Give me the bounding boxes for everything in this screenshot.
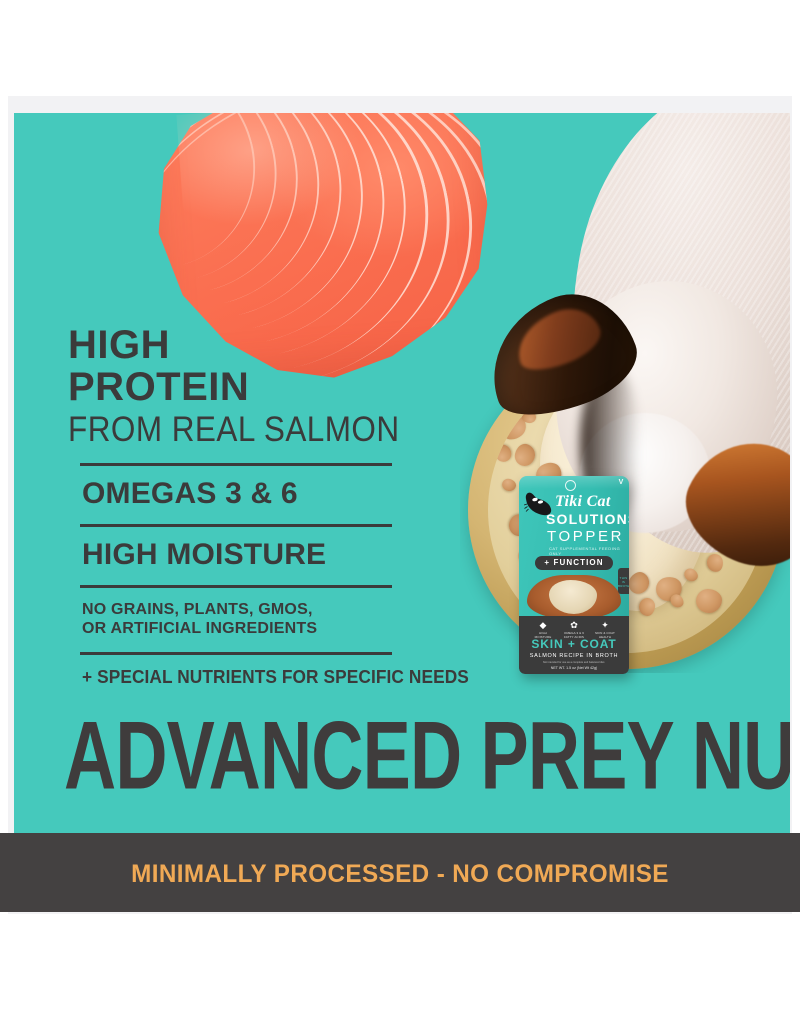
benefit-glyph-icon: ◆ [531, 620, 555, 631]
benefit-glyph-icon: ✿ [562, 620, 586, 631]
pouch-brand-name: Tiki Cat [555, 494, 611, 510]
kibble-piece [513, 442, 537, 468]
divider-4 [80, 652, 392, 655]
kibble-piece [638, 597, 656, 616]
cat-ear-inner [508, 300, 607, 378]
exclusions-line-1: NO GRAINS, PLANTS, GMOS, [82, 600, 468, 619]
benefit-glyph-icon: ✦ [593, 620, 617, 631]
pouch-line-topper: TOPPER [547, 529, 624, 544]
pouch-legal-text: Not intended for use as a complete and b… [519, 661, 629, 665]
divider-2 [80, 524, 392, 527]
pouch-recipe-name: SALMON RECIPE IN BROTH [519, 653, 629, 660]
pouch-broth-tab: THIS IS BROTH [618, 568, 629, 594]
divider-3 [80, 585, 392, 588]
fact-moisture: HIGH MOISTURE [82, 539, 468, 571]
pouch-topper-blob [549, 580, 597, 614]
special-nutrients-line: + SPECIAL NUTRIENTS FOR SPECIFIC NEEDS [82, 667, 453, 687]
certification-badge-icon [565, 480, 576, 491]
kibble-piece [501, 477, 518, 492]
pouch-supplemental-note: CAT SUPPLEMENTAL FEEDING ONLY [549, 546, 629, 556]
footer-bar: MINIMALLY PROCESSED - NO COMPROMISE [0, 833, 800, 912]
product-feature-graphic: HIGH PROTEIN FROM REAL SALMON OMEGAS 3 &… [0, 0, 800, 1024]
benefit-copy-block: HIGH PROTEIN FROM REAL SALMON OMEGAS 3 &… [68, 325, 468, 687]
v-logo-icon: V [619, 479, 623, 487]
divider-1 [80, 463, 392, 466]
pouch-function-pill: + FUNCTION [535, 556, 613, 570]
pouch-benefit-name: SKIN + COAT [519, 638, 629, 651]
product-pouch[interactable]: V Tiki Cat SOLUTIONS TOPPER CAT SUPPLEME… [519, 476, 629, 674]
main-headline: ADVANCED PREY NUTRITION [64, 708, 652, 804]
headline-line-1: HIGH [68, 325, 468, 365]
pouch-net-weight: NET WT. 1.5 oz (Net Wt 42g) [519, 666, 629, 671]
kibble-piece [696, 589, 722, 613]
pouch-line-solutions: SOLUTIONS [546, 512, 629, 526]
pouch-bottom-panel: ◆HIGH MOISTURE✿OMEGA 3 & 6 FATTY ACIDS✦S… [519, 616, 629, 674]
headline-subtitle: FROM REAL SALMON [68, 411, 428, 449]
exclusions-line-2: OR ARTIFICIAL INGREDIENTS [82, 619, 468, 638]
pouch-food-photo [527, 575, 621, 619]
artwork-panel: HIGH PROTEIN FROM REAL SALMON OMEGAS 3 &… [14, 113, 790, 912]
fact-omegas: OMEGAS 3 & 6 [82, 478, 468, 510]
footer-tagline: MINIMALLY PROCESSED - NO COMPROMISE [12, 860, 788, 889]
kibble-piece [491, 441, 514, 465]
headline-line-2: PROTEIN [68, 367, 468, 407]
kibble-piece [705, 553, 724, 574]
